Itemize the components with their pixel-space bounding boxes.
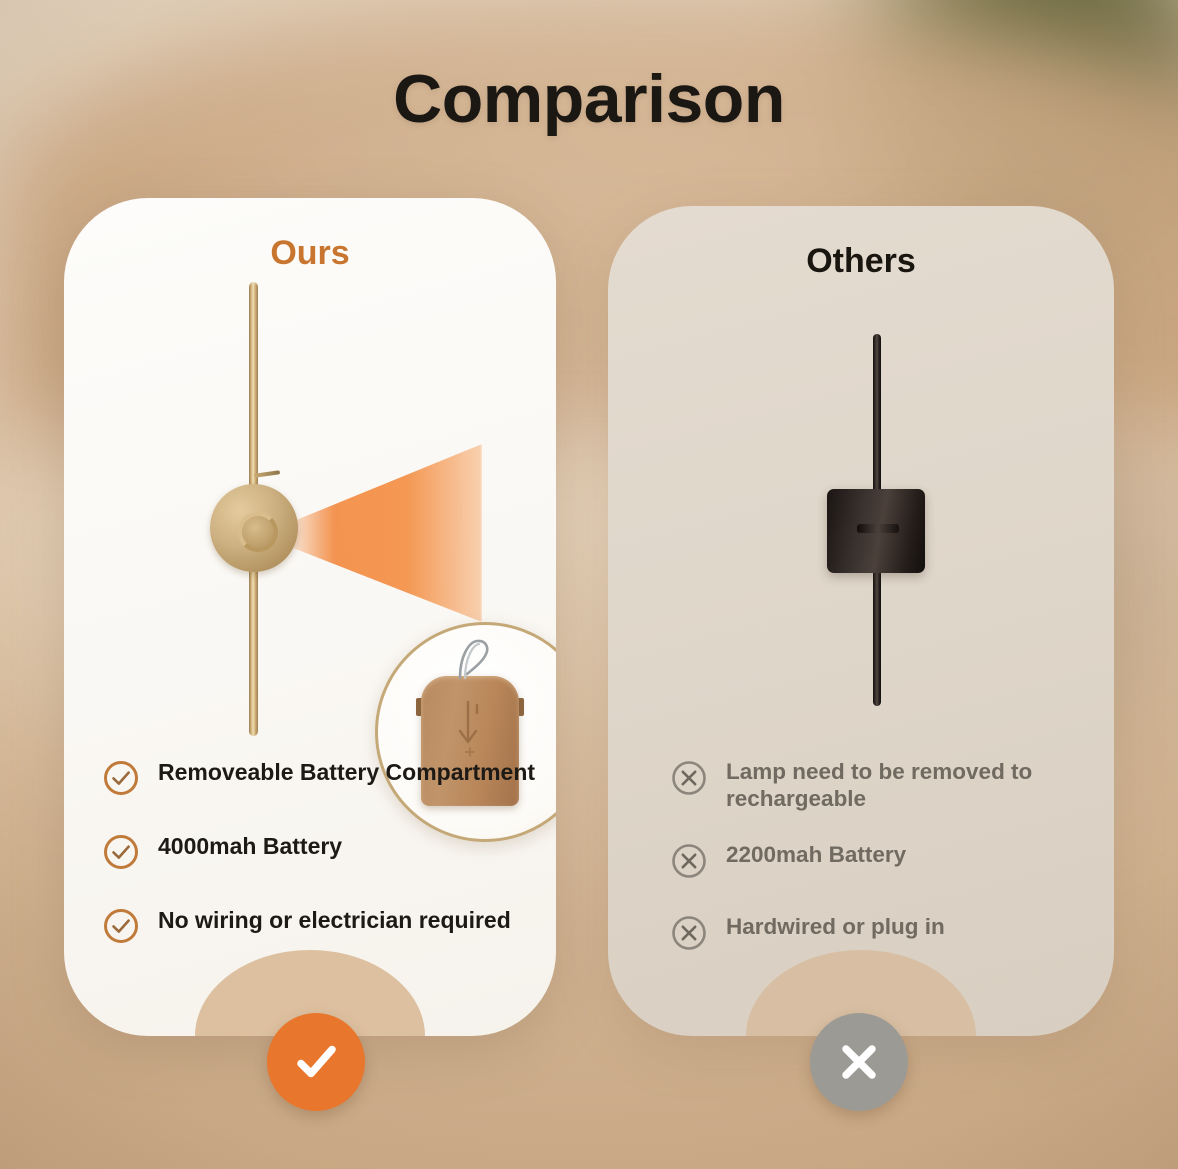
product-image-black-bar-wall-lamp bbox=[608, 206, 1114, 766]
feature-list-others: Lamp need to be removed to rechargeable … bbox=[608, 758, 1114, 985]
check-circle-icon bbox=[102, 759, 140, 802]
list-item: Removeable Battery Compartment bbox=[102, 758, 556, 802]
comparison-card-ours: Ours bbox=[64, 198, 556, 1036]
feature-list-ours: Removeable Battery Compartment 4000mah B… bbox=[64, 758, 556, 980]
battery-direction-arrow-icon bbox=[455, 698, 485, 760]
x-glyph-icon bbox=[831, 1034, 887, 1090]
feature-text: 4000mah Battery bbox=[158, 832, 342, 860]
check-circle-icon bbox=[102, 833, 140, 876]
x-circle-icon bbox=[670, 842, 708, 885]
zoom-beam-cone bbox=[282, 444, 482, 622]
battery-clip-icon bbox=[453, 636, 499, 682]
list-item: No wiring or electrician required bbox=[102, 906, 556, 950]
check-glyph-icon bbox=[288, 1034, 344, 1090]
x-badge-icon: Not recommended bbox=[810, 1013, 908, 1111]
card-surface-ours: Ours bbox=[64, 198, 556, 1036]
comparison-card-others: Others Lamp need to be removed to rechar… bbox=[608, 206, 1114, 1036]
comparison-page: Comparison Ours bbox=[0, 0, 1178, 1169]
page-title: Comparison bbox=[0, 60, 1178, 138]
card-surface-others: Others Lamp need to be removed to rechar… bbox=[608, 206, 1114, 1036]
list-item: 4000mah Battery bbox=[102, 832, 556, 876]
feature-text: 2200mah Battery bbox=[726, 841, 906, 868]
check-circle-icon bbox=[102, 907, 140, 950]
feature-text: Lamp need to be removed to rechargeable bbox=[726, 758, 1076, 813]
list-item: 2200mah Battery bbox=[670, 841, 1114, 885]
x-circle-icon bbox=[670, 759, 708, 802]
x-circle-icon bbox=[670, 914, 708, 957]
product-image-gold-bar-wall-lamp bbox=[64, 198, 556, 758]
check-badge-icon: Recommended bbox=[267, 1013, 365, 1111]
mount-ring-detail bbox=[238, 512, 278, 552]
list-item: Hardwired or plug in bbox=[670, 913, 1114, 957]
feature-text: Removeable Battery Compartment bbox=[158, 758, 535, 786]
feature-text: Hardwired or plug in bbox=[726, 913, 945, 940]
list-item: Lamp need to be removed to rechargeable bbox=[670, 758, 1114, 813]
mount-notch-detail bbox=[857, 524, 899, 533]
feature-text: No wiring or electrician required bbox=[158, 906, 511, 934]
